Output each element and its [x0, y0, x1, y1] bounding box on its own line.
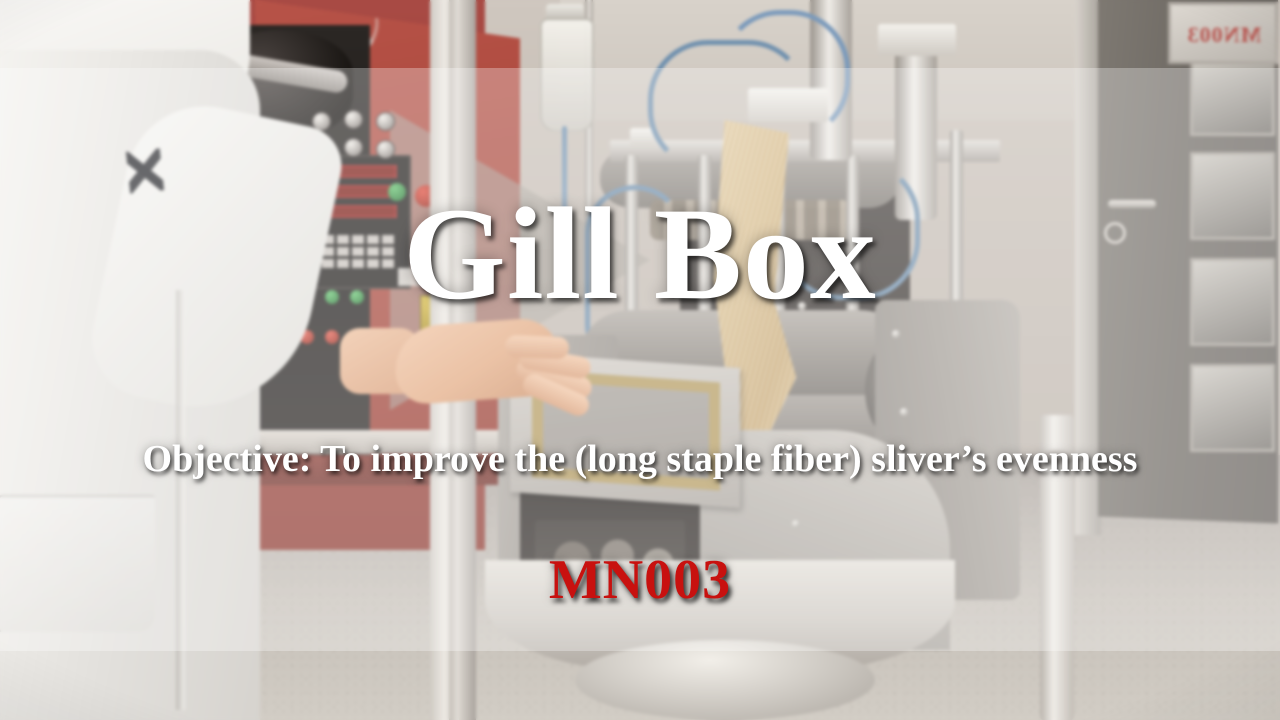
panel-indicator-5 [325, 330, 339, 344]
title-text: Gill Box [0, 188, 1280, 320]
gb-screw-2 [892, 330, 900, 338]
panel-knob-6 [376, 140, 395, 159]
technician [0, 0, 300, 720]
gb-screw-4 [792, 520, 800, 528]
title-card: MN003 Gill Box Objective: To improve the… [0, 0, 1280, 720]
panel-knob-3 [376, 112, 395, 131]
code-text: MN003 [0, 552, 1280, 608]
lab-coat-placket [176, 290, 185, 710]
technician-hand [395, 322, 585, 442]
subtitle-text: Objective: To improve the (long staple f… [0, 440, 1280, 478]
door-pane-1 [1190, 58, 1275, 136]
gb-screw-3 [900, 408, 908, 416]
panel-knob-5 [344, 138, 363, 157]
door-pane-4 [1190, 364, 1275, 452]
panel-knob-2 [344, 110, 363, 129]
gb-air-hose-2 [720, 10, 850, 140]
finger-4 [505, 335, 570, 359]
gb-valve-block-2 [878, 24, 956, 56]
background-photo: MN003 [0, 0, 1280, 720]
door-sign-text: MN003 [1172, 22, 1276, 48]
gb-coiler-can [575, 640, 875, 720]
lab-coat-emblem-icon [126, 148, 164, 193]
